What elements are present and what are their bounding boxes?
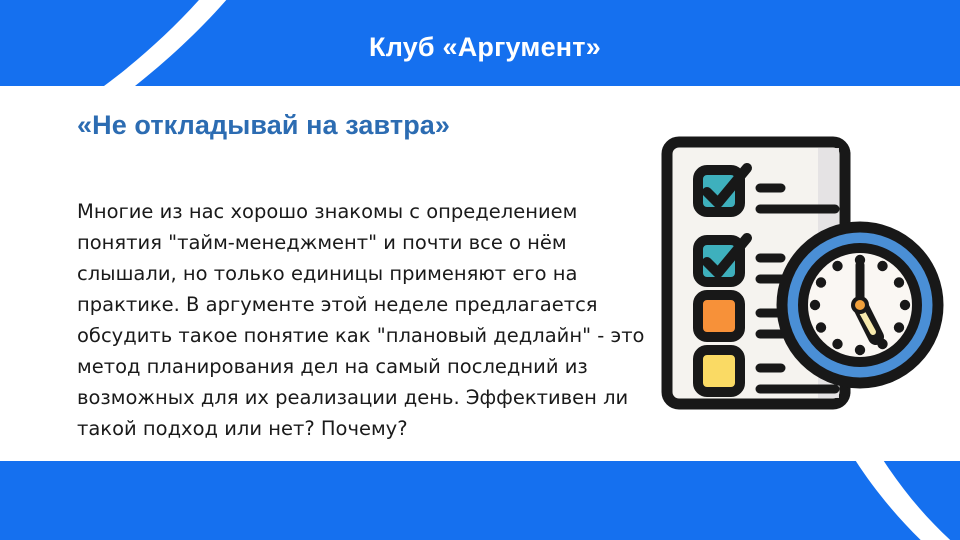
checkbox-yellow[interactable] [698,350,740,392]
header-band: Клуб «Аргумент» [0,0,960,86]
slide-canvas: Клуб «Аргумент» «Не откладывай на завтра… [0,0,960,540]
body-paragraph: Многие из нас хорошо знакомы с определен… [77,196,667,444]
clock-icon [782,227,938,383]
slide-subtitle: «Не откладывай на завтра» [77,110,450,141]
clock-center-pin [855,300,865,310]
footer-decorative-arc [0,461,960,540]
page-title: Клуб «Аргумент» [0,32,960,63]
body-paragraph-text: Многие из нас хорошо знакомы с определен… [77,196,667,444]
checkbox-orange[interactable] [698,295,740,337]
footer-band [0,461,960,540]
checklist-clock-illustration [655,132,955,422]
